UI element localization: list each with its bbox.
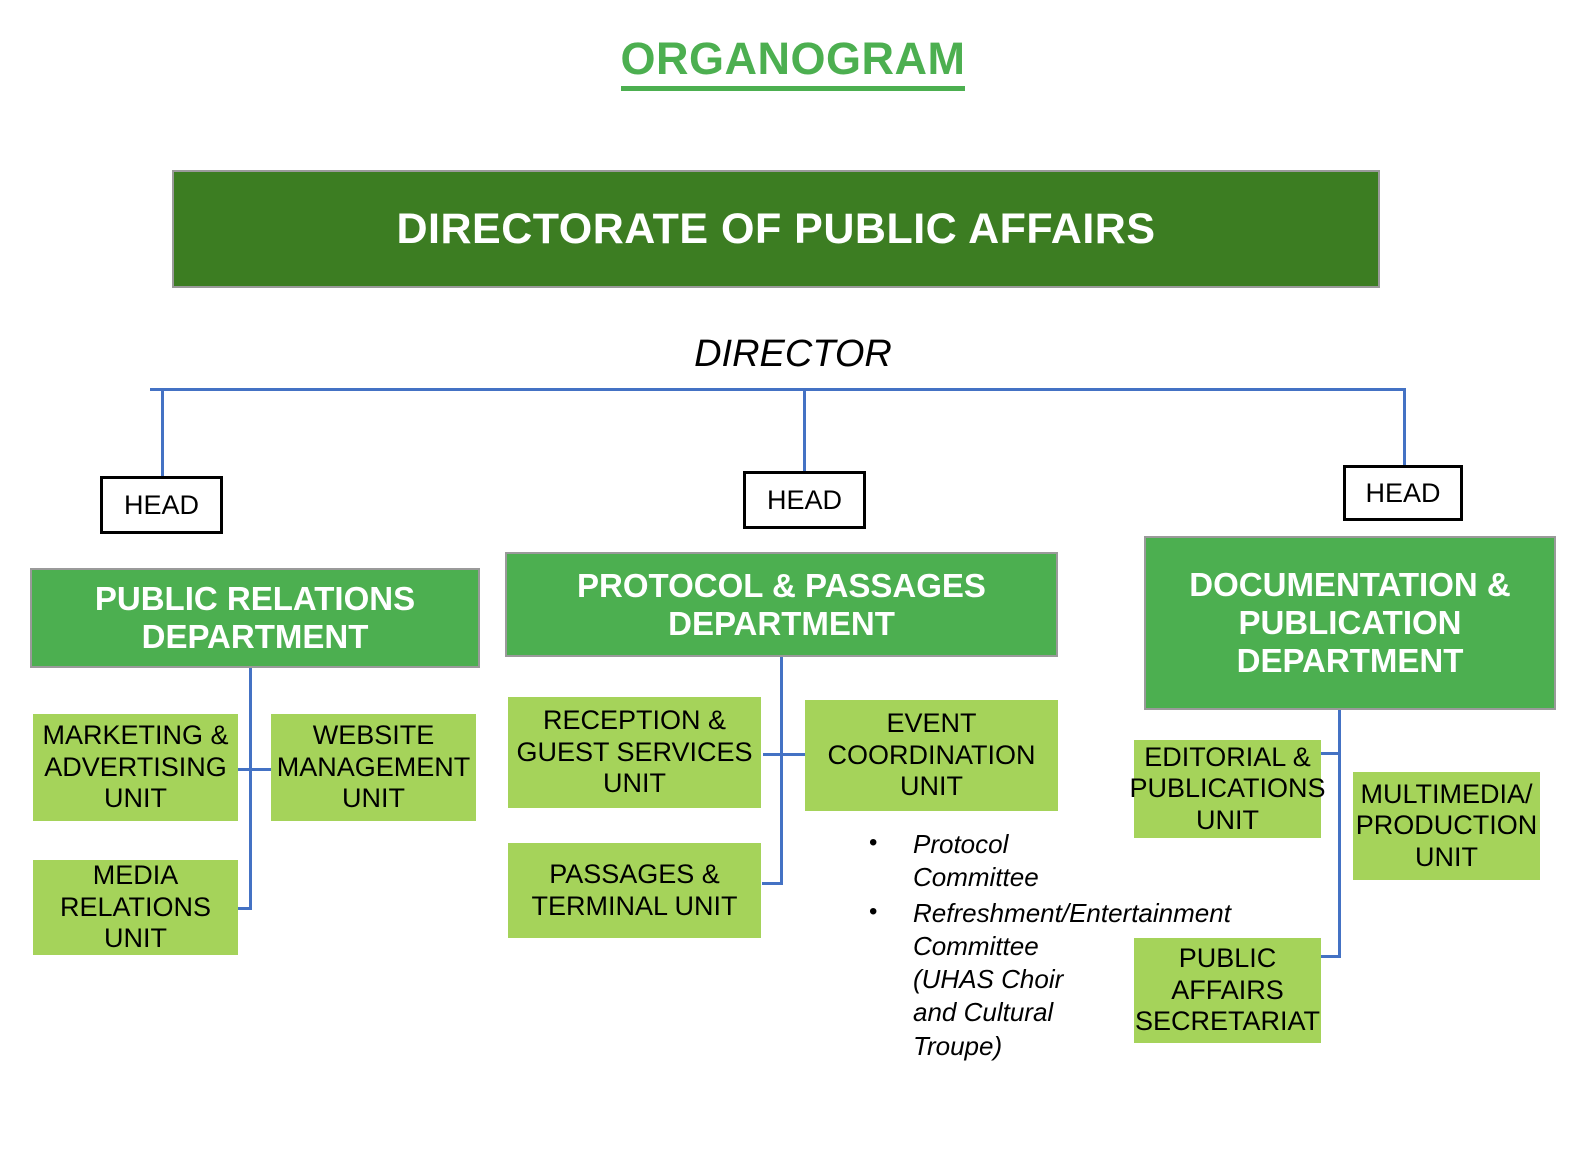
root-directorate-box: DIRECTORATE OF PUBLIC AFFAIRS (172, 170, 1380, 288)
department-label: DOCUMENTATION & PUBLICATION DEPARTMENT (1152, 566, 1548, 680)
unit-box-event-coordination: EVENT COORDINATION UNIT (805, 700, 1058, 811)
committee-list: • Protocol Committee • Refreshment/Enter… (855, 828, 1113, 1065)
unit-label: PASSAGES & TERMINAL UNIT (512, 859, 757, 922)
connector-director-to-head-3 (1403, 388, 1406, 465)
page-title-text: ORGANOGRAM (621, 33, 966, 91)
connector-director-to-head-1 (161, 388, 164, 476)
connector-col2-spine (780, 657, 783, 885)
department-box-protocol-passages: PROTOCOL & PASSAGES DEPARTMENT (505, 552, 1058, 657)
unit-label: EDITORIAL & PUBLICATIONS UNIT (1129, 742, 1325, 837)
connector-director-horizontal (150, 388, 1406, 391)
unit-box-passages-terminal: PASSAGES & TERMINAL UNIT (508, 843, 761, 938)
unit-label: MARKETING & ADVERTISING UNIT (37, 720, 234, 815)
page-title: ORGANOGRAM (0, 33, 1586, 85)
unit-box-marketing-advertising: MARKETING & ADVERTISING UNIT (33, 714, 238, 821)
head-label: HEAD (767, 485, 842, 516)
unit-label: MEDIA RELATIONS UNIT (37, 860, 234, 955)
committee-list-item: • Refreshment/Entertainment Committee (U… (913, 897, 1113, 1063)
unit-label: EVENT COORDINATION UNIT (809, 708, 1054, 803)
organogram-canvas: ORGANOGRAM DIRECTORATE OF PUBLIC AFFAIRS… (0, 0, 1586, 1164)
head-label: HEAD (124, 490, 199, 521)
unit-label: MULTIMEDIA/ PRODUCTION UNIT (1356, 779, 1538, 874)
department-box-public-relations: PUBLIC RELATIONS DEPARTMENT (30, 568, 480, 668)
bullet-icon: • (869, 828, 877, 859)
connector-col1-branch-lower (237, 907, 252, 910)
bullet-icon: • (869, 897, 877, 928)
head-box-protocol-passages: HEAD (743, 471, 866, 529)
head-box-public-relations: HEAD (100, 476, 223, 534)
director-label: DIRECTOR (0, 333, 1586, 376)
unit-label: RECEPTION & GUEST SERVICES UNIT (512, 705, 757, 800)
department-box-documentation-publication: DOCUMENTATION & PUBLICATION DEPARTMENT (1144, 536, 1556, 710)
unit-box-website-management: WEBSITE MANAGEMENT UNIT (271, 714, 476, 821)
connector-col2-branch-lower (762, 882, 783, 885)
unit-box-reception-guest-services: RECEPTION & GUEST SERVICES UNIT (508, 697, 761, 808)
committee-label: Protocol Committee (913, 829, 1039, 892)
head-label: HEAD (1365, 478, 1440, 509)
unit-box-multimedia-production: MULTIMEDIA/ PRODUCTION UNIT (1353, 772, 1540, 880)
connector-col2-branch-to-event (763, 753, 807, 756)
connector-col1-branch-upper (237, 768, 273, 771)
unit-box-editorial-publications: EDITORIAL & PUBLICATIONS UNIT (1134, 740, 1321, 838)
department-label: PROTOCOL & PASSAGES DEPARTMENT (513, 567, 1050, 643)
unit-label: WEBSITE MANAGEMENT UNIT (275, 720, 472, 815)
unit-box-public-affairs-secretariat: PUBLIC AFFAIRS SECRETARIAT (1134, 938, 1321, 1043)
unit-box-media-relations: MEDIA RELATIONS UNIT (33, 860, 238, 955)
department-label: PUBLIC RELATIONS DEPARTMENT (38, 580, 472, 656)
head-box-documentation-publication: HEAD (1343, 465, 1463, 521)
connector-col3-spine (1338, 710, 1341, 958)
unit-label: PUBLIC AFFAIRS SECRETARIAT (1135, 943, 1320, 1038)
root-directorate-label: DIRECTORATE OF PUBLIC AFFAIRS (396, 205, 1155, 254)
connector-col1-spine (249, 668, 252, 910)
committee-list-item: • Protocol Committee (913, 828, 1113, 895)
connector-director-to-head-2 (803, 388, 806, 471)
